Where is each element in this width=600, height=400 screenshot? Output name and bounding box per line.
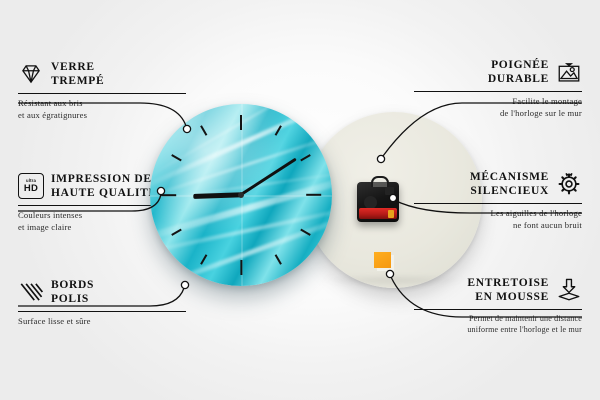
callout-subtitle-line1: Résistant aux bris: [18, 98, 83, 108]
picture-hanger-icon: [556, 59, 582, 85]
callout-title-line2: POLIS: [51, 293, 89, 305]
callout-rule: [414, 203, 582, 205]
product-infographic: VERRE TREMPÉ Résistant aux bris et aux é…: [0, 0, 600, 400]
callout-entretoise-en-mousse: ENTRETOISE EN MOUSSE Permet de maintenir…: [414, 276, 582, 336]
callout-subtitle-line1: Couleurs intenses: [18, 210, 82, 220]
callout-subtitle-line1: Les aiguilles de l'horloge: [491, 208, 582, 218]
diamond-icon: [18, 61, 44, 87]
callout-title-line2: TREMPÉ: [51, 75, 104, 87]
foam-spacer-arrow-icon: [556, 277, 582, 303]
callout-mecanisme-silencieux: MÉCANISME SILENCIEUX Les aiguilles de l'…: [414, 170, 582, 232]
callout-title-line1: BORDS: [51, 279, 94, 291]
callout-subtitle-line2: uniforme entre l'horloge et le mur: [467, 325, 582, 334]
callout-subtitle-line2: ne font aucun bruit: [513, 220, 582, 230]
callout-poignee-durable: POIGNÉE DURABLE Facilite le montage de l…: [414, 58, 582, 120]
callout-title-line2: EN MOUSSE: [475, 291, 549, 303]
callout-title-line1: VERRE: [51, 61, 95, 73]
callout-title-line1: ENTRETOISE: [467, 277, 549, 289]
clock-face: [150, 104, 332, 286]
clock-mechanism: [357, 182, 399, 222]
callout-subtitle-line2: et image claire: [18, 222, 72, 232]
callout-rule: [18, 311, 186, 313]
callout-title-line2: HAUTE QUALITÉ: [51, 187, 157, 199]
battery-positive-terminal: [388, 210, 394, 218]
foam-spacer: [374, 252, 391, 268]
callout-subtitle-line1: Surface lisse et sûre: [18, 316, 91, 326]
mechanism-hanger-icon: [371, 176, 389, 187]
hd-badge-bottom-text: HD: [24, 184, 38, 194]
callout-title-line2: SILENCIEUX: [470, 185, 549, 197]
ultra-hd-badge-icon: ultra HD: [18, 173, 44, 199]
callout-subtitle-line1: Facilite le montage: [512, 96, 582, 106]
callout-title-line2: DURABLE: [488, 73, 549, 85]
callout-title-line1: IMPRESSION DE: [51, 173, 152, 185]
diagonal-stripes-icon: [18, 279, 44, 305]
callout-rule: [18, 93, 186, 95]
battery: [359, 208, 397, 219]
callout-title-line1: POIGNÉE: [491, 59, 549, 71]
callout-rule: [414, 91, 582, 93]
mechanism-contacts: [385, 187, 394, 195]
callout-subtitle-line2: de l'horloge sur le mur: [500, 108, 582, 118]
gear-icon: [556, 171, 582, 197]
callout-title-line1: MÉCANISME: [470, 171, 549, 183]
callout-subtitle-line2: et aux égratignures: [18, 110, 87, 120]
callout-rule: [414, 309, 582, 311]
callout-subtitle-line1: Permet de maintenir une distance: [469, 314, 582, 323]
hands-center-cap: [238, 192, 244, 198]
